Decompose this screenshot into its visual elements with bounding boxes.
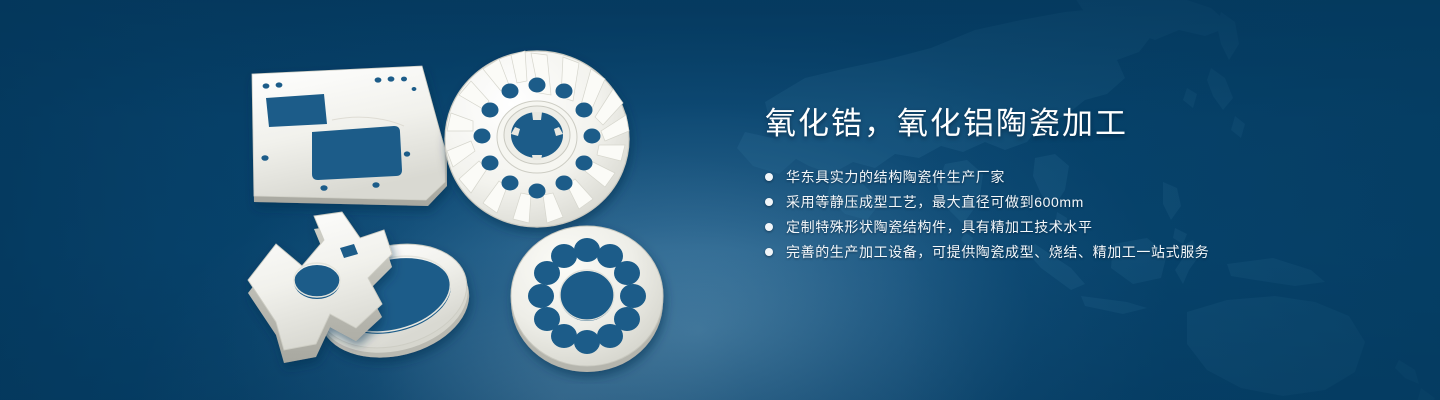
ceramic-valve-plate <box>511 226 663 372</box>
ceramic-parts-photo <box>232 34 712 384</box>
ceramic-processing-banner: 氧化锆，氧化铝陶瓷加工 华东具实力的结构陶瓷件生产厂家 采用等静压成型工艺，最大… <box>0 0 1440 400</box>
bullet-dot-icon <box>765 223 773 231</box>
list-item: 完善的生产加工设备，可提供陶瓷成型、烧结、精加工一站式服务 <box>765 241 1365 263</box>
ceramic-impeller-disc <box>445 51 629 227</box>
bullet-dot-icon <box>765 248 773 256</box>
feature-text: 定制特殊形状陶瓷结构件，具有精加工技术水平 <box>786 216 1093 238</box>
list-item: 华东具实力的结构陶瓷件生产厂家 <box>765 166 1365 188</box>
ceramic-mounting-plate <box>252 66 447 206</box>
feature-text: 华东具实力的结构陶瓷件生产厂家 <box>786 166 1005 188</box>
bullet-dot-icon <box>765 173 773 181</box>
list-item: 采用等静压成型工艺，最大直径可做到600mm <box>765 191 1365 213</box>
feature-list: 华东具实力的结构陶瓷件生产厂家 采用等静压成型工艺，最大直径可做到600mm 定… <box>765 166 1365 263</box>
banner-text-column: 氧化锆，氧化铝陶瓷加工 华东具实力的结构陶瓷件生产厂家 采用等静压成型工艺，最大… <box>765 104 1365 266</box>
bullet-dot-icon <box>765 198 773 206</box>
feature-text: 完善的生产加工设备，可提供陶瓷成型、烧结、精加工一站式服务 <box>786 241 1209 263</box>
feature-text: 采用等静压成型工艺，最大直径可做到600mm <box>786 191 1084 213</box>
page-title: 氧化锆，氧化铝陶瓷加工 <box>765 104 1365 144</box>
list-item: 定制特殊形状陶瓷结构件，具有精加工技术水平 <box>765 216 1365 238</box>
